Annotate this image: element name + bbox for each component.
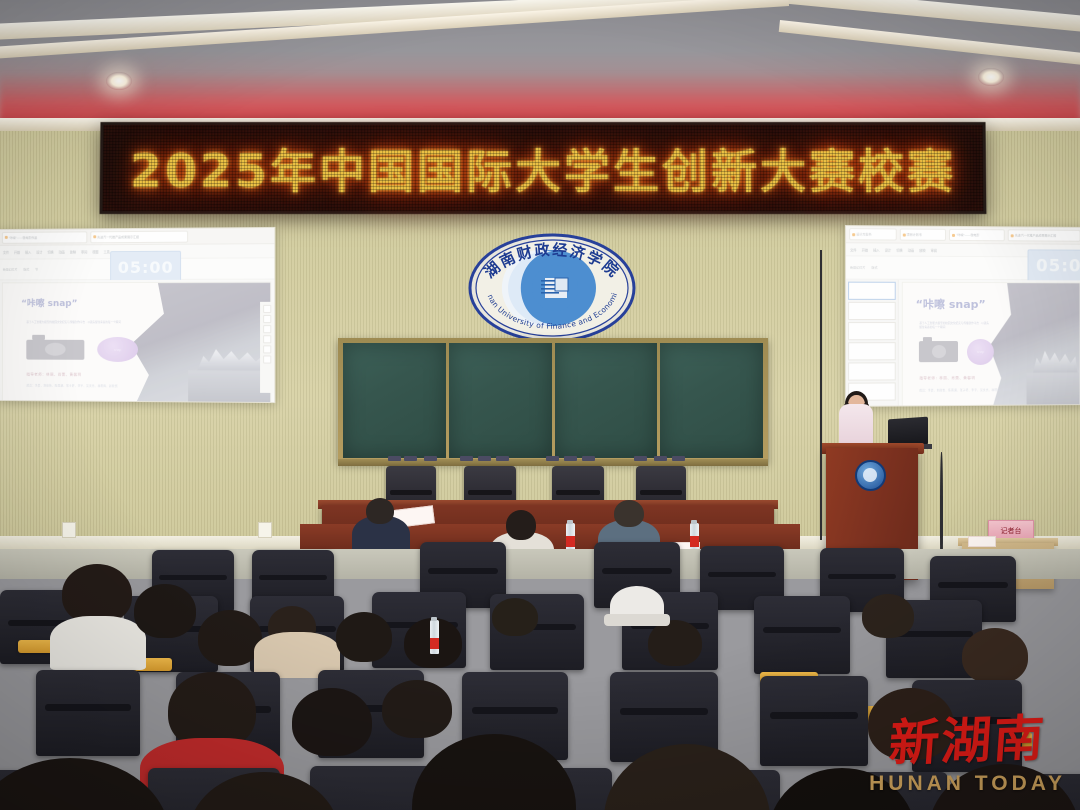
- slide-subtitle: 基于人工智能大模型的校园文化纪实与传播创作平台 · 以镜头留住青春的每一个瞬间: [919, 322, 990, 331]
- tab-bar-left: "咔嚓"——微电影作品 先进汽一代推产品成果展示汇报: [0, 228, 274, 246]
- audience-head: [382, 680, 452, 738]
- led-banner-text: 2025年中国国际大学生创新大赛校赛: [103, 125, 984, 211]
- editor-body-right: “咔嚓 snap” 基于人工智能大模型的校园文化纪实与传播创作平台 · 以镜头留…: [846, 279, 1080, 407]
- audience-head: [962, 628, 1028, 684]
- file-icon: [5, 236, 8, 239]
- audience-head: [868, 688, 954, 760]
- panel-icon[interactable]: [263, 356, 271, 364]
- slide-canvas-left[interactable]: “咔嚓 snap” 基于人工智能大模型的校园文化纪实与传播创作平台 · 以镜头留…: [0, 280, 274, 403]
- toolbar-item[interactable]: 新建幻灯片: [3, 267, 18, 272]
- editor-body-left: “咔嚓 snap” 基于人工智能大模型的校园文化纪实与传播创作平台 · 以镜头留…: [0, 280, 274, 403]
- chalkboard-eraser: [672, 456, 685, 461]
- camera-icon: [26, 339, 84, 359]
- chalkboard-eraser: [388, 456, 401, 461]
- document-tab-label: "咔嚓"——微电影作品: [9, 235, 38, 239]
- slide-title: “咔嚓 snap”: [21, 296, 77, 309]
- podium-emblem: [855, 460, 886, 491]
- tab-bar-right: 设计方案书 项目计划书 "咔嚓"——微电影 先进汽一代推产品成果展示汇报: [846, 226, 1080, 245]
- audience-area: [0, 520, 1080, 810]
- audience-head: [492, 598, 538, 636]
- camera-icon: [919, 341, 958, 362]
- toolbar-item[interactable]: 版式: [871, 265, 877, 270]
- chalkboard: [338, 338, 768, 463]
- ribbon-item[interactable]: 放映: [919, 247, 925, 252]
- slide-title: “咔嚓 snap”: [916, 296, 986, 312]
- panel-icon[interactable]: [263, 346, 271, 354]
- lake-graphic: [188, 371, 270, 402]
- slide-thumbnail[interactable]: [848, 342, 896, 360]
- chalkboard-eraser: [424, 456, 437, 461]
- slide-thumbnail[interactable]: [848, 281, 896, 299]
- countdown-timer-left: 05:00: [110, 250, 181, 283]
- ribbon-item[interactable]: 视图: [92, 249, 98, 254]
- ribbon-item[interactable]: 切换: [47, 249, 53, 254]
- file-icon: [852, 233, 855, 236]
- cable: [820, 250, 822, 540]
- mountain-graphic: [197, 340, 267, 371]
- file-icon: [952, 233, 955, 236]
- slide-thumbnail[interactable]: [848, 302, 896, 320]
- water-bottle: [430, 620, 439, 654]
- slide-advisors: 指导老师：林丽、肖蕾、黄馨玥: [919, 376, 975, 381]
- document-tab-label: 先进汽一代推产品成果展示汇报: [97, 235, 139, 239]
- slide-left: “咔嚓 snap” 基于人工智能大模型的校园文化纪实与传播创作平台 · 以镜头留…: [2, 282, 271, 403]
- ribbon-item[interactable]: 开始: [862, 247, 868, 252]
- toolbar-right: 新建幻灯片 版式 05:0: [846, 257, 1080, 280]
- ribbon-item[interactable]: 插入: [873, 247, 879, 252]
- downlight: [978, 68, 1004, 86]
- document-tab[interactable]: 项目计划书: [899, 229, 946, 241]
- presentation-window-right: 设计方案书 项目计划书 "咔嚓"——微电影 先进汽一代推产品成果展示汇报 文件 …: [846, 226, 1080, 406]
- chalkboard-panel: [555, 343, 658, 458]
- ribbon-item[interactable]: 文件: [850, 247, 856, 252]
- audience-seat[interactable]: [760, 676, 868, 766]
- audience-seat[interactable]: [36, 670, 140, 756]
- snap-badge: snap: [98, 337, 138, 362]
- audience-torso: [50, 616, 146, 670]
- downlight: [106, 72, 132, 90]
- chalkboard-eraser: [478, 456, 491, 461]
- chalkboard-eraser: [564, 456, 577, 461]
- ribbon-item[interactable]: 审阅: [931, 248, 937, 253]
- slide-members: 成员：李晨、刘欣怡、陈雨涵、张子轩、李宇、吴文杰、林晓梅、赵欣然: [26, 384, 117, 389]
- lake-graphic: [1027, 373, 1080, 405]
- chalkboard-eraser: [546, 456, 559, 461]
- file-icon: [93, 235, 96, 238]
- bottle-cap: [431, 617, 437, 621]
- ceiling: [0, 0, 1080, 128]
- projection-screen-right: 设计方案书 项目计划书 "咔嚓"——微电影 先进汽一代推产品成果展示汇报 文件 …: [845, 225, 1080, 407]
- chalkboard-eraser: [634, 456, 647, 461]
- ribbon-item[interactable]: 工具: [104, 249, 110, 254]
- ribbon-item[interactable]: 动画: [908, 247, 914, 252]
- projection-screen-left: "咔嚓"——微电影作品 先进汽一代推产品成果展示汇报 文件 开始 插入 设计 切…: [0, 227, 275, 403]
- ribbon-item[interactable]: 切换: [896, 247, 902, 252]
- document-tab-label: "咔嚓"——微电影: [956, 233, 979, 237]
- document-tab[interactable]: "咔嚓"——微电影: [949, 229, 1005, 241]
- audience-head: [134, 584, 196, 638]
- ribbon-item[interactable]: 放映: [70, 249, 76, 254]
- chalkboard-panel: [660, 343, 763, 458]
- panel-icon[interactable]: [263, 305, 271, 313]
- audience-head: [198, 610, 262, 666]
- audience-seat[interactable]: [754, 596, 850, 674]
- audience-head: [62, 564, 132, 624]
- mountain-graphic: [1033, 341, 1078, 373]
- slide-thumbnail[interactable]: [848, 322, 896, 340]
- document-tab-label: 项目计划书: [907, 233, 922, 237]
- ribbon-item[interactable]: 文件: [3, 250, 9, 255]
- ribbon-item[interactable]: 动画: [59, 249, 65, 254]
- countdown-timer-right: 05:0: [1027, 249, 1080, 283]
- audience-head: [648, 620, 702, 666]
- snap-badge: snap: [967, 339, 994, 365]
- chalkboard-eraser: [654, 456, 667, 461]
- lecture-hall-photo: 2025年中国国际大学生创新大赛校赛 湖南财政经济学院 Hu: [0, 0, 1080, 810]
- right-rail-left-screen: [260, 302, 274, 393]
- ribbon-item[interactable]: 审阅: [81, 249, 87, 254]
- audience-head: [862, 594, 914, 638]
- slide-thumbnail-panel[interactable]: [846, 279, 899, 407]
- chalkboard-panel: [449, 343, 552, 458]
- audience-head: [336, 612, 392, 662]
- slide-photo: [981, 283, 1079, 405]
- document-tab[interactable]: 先进汽一代推产品成果展示汇报: [90, 231, 188, 243]
- slide-thumbnail[interactable]: [848, 362, 896, 380]
- chalkboard-eraser: [404, 456, 417, 461]
- slide-members: 成员：李晨、刘欣怡、陈雨涵、张子轩、李宇、吴文杰、林晓梅、赵欣然: [919, 388, 1011, 393]
- file-icon: [903, 233, 906, 236]
- toolbar-item[interactable]: 节: [35, 267, 38, 271]
- led-banner: 2025年中国国际大学生创新大赛校赛: [100, 122, 987, 214]
- chalkboard-panel: [343, 343, 446, 458]
- presentation-window-left: "咔嚓"——微电影作品 先进汽一代推产品成果展示汇报 文件 开始 插入 设计 切…: [0, 228, 274, 402]
- document-tab[interactable]: "咔嚓"——微电影作品: [2, 231, 87, 243]
- toolbar-item[interactable]: 新建幻灯片: [850, 265, 865, 270]
- slide-subtitle: 基于人工智能大模型的校园文化纪实与传播创作平台 · 以镜头留住青春的每一个瞬间: [26, 321, 132, 325]
- audience-head: [292, 688, 372, 756]
- chalkboard-eraser: [460, 456, 473, 461]
- slide-advisors: 指导老师：林丽、肖蕾、黄馨玥: [26, 372, 81, 377]
- document-tab-label: 设计方案书: [856, 232, 871, 236]
- slide-right: “咔嚓 snap” 基于人工智能大模型的校园文化纪实与传播创作平台 · 以镜头留…: [902, 282, 1080, 407]
- university-emblem: 湖南财政经济学院 Hunan University of Finance and…: [467, 232, 637, 344]
- slide-canvas-right[interactable]: “咔嚓 snap” 基于人工智能大模型的校园文化纪实与传播创作平台 · 以镜头留…: [899, 280, 1080, 407]
- file-icon: [1011, 234, 1014, 237]
- panel-icon[interactable]: [263, 326, 271, 334]
- ribbon-item[interactable]: 设计: [885, 247, 891, 252]
- document-tab-label: 先进汽一代推产品成果展示汇报: [1015, 233, 1056, 237]
- document-tab[interactable]: 设计方案书: [849, 228, 896, 240]
- panel-icon[interactable]: [263, 315, 271, 323]
- panel-icon[interactable]: [263, 336, 271, 344]
- chalkboard-eraser: [496, 456, 509, 461]
- ribbon-item[interactable]: 插入: [25, 250, 31, 255]
- cap-brim: [604, 614, 670, 626]
- document-tab[interactable]: 先进汽一代推产品成果展示汇报: [1008, 229, 1080, 241]
- toolbar-left: 新建幻灯片 版式 节 05:00: [0, 258, 274, 281]
- slide-photo: [119, 283, 270, 402]
- chalkboard-eraser: [582, 456, 595, 461]
- toolbar-item[interactable]: 版式: [23, 267, 29, 271]
- ribbon-item[interactable]: 开始: [14, 250, 20, 255]
- ribbon-item[interactable]: 设计: [36, 250, 42, 255]
